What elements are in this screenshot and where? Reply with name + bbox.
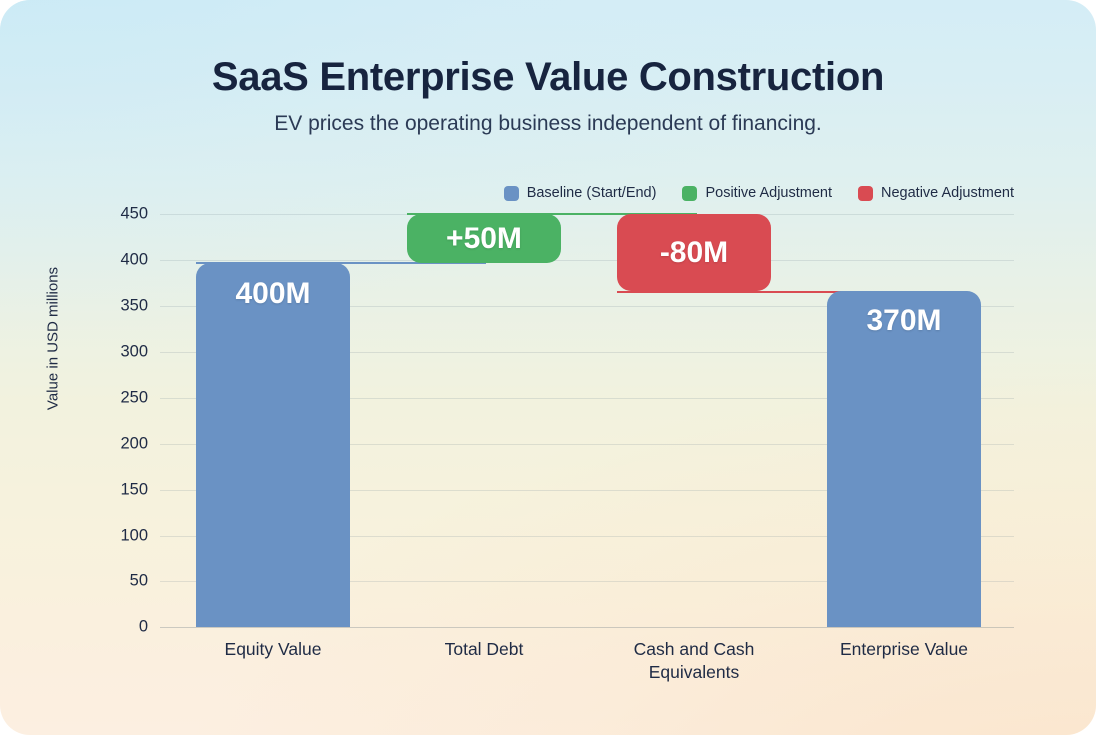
- bar-label-total-debt: +50M: [407, 222, 561, 256]
- y-tick-0: 0: [90, 618, 148, 637]
- chart-legend: Baseline (Start/End) Positive Adjustment…: [160, 185, 1014, 201]
- x-tick-cash-line2: Equivalents: [594, 661, 794, 684]
- bar-cash-and-cash-equivalents[interactable]: -80M: [617, 214, 771, 291]
- chart-subtitle: EV prices the operating business indepen…: [0, 111, 1096, 136]
- x-tick-total-debt-line1: Total Debt: [384, 638, 584, 661]
- y-tick-250: 250: [90, 389, 148, 408]
- gridline-0: [160, 627, 1014, 628]
- x-tick-enterprise-value: Enterprise Value: [804, 638, 1004, 661]
- bar-label-equity-value: 400M: [196, 277, 350, 311]
- x-tick-equity-value-line1: Equity Value: [173, 638, 373, 661]
- y-axis-title: Value in USD millions: [45, 259, 62, 419]
- y-tick-200: 200: [90, 435, 148, 454]
- x-tick-total-debt: Total Debt: [384, 638, 584, 661]
- legend-item-baseline[interactable]: Baseline (Start/End): [504, 185, 657, 201]
- x-tick-cash-line1: Cash and Cash: [594, 638, 794, 661]
- legend-label-negative: Negative Adjustment: [881, 185, 1014, 201]
- legend-swatch-negative: [858, 186, 873, 201]
- chart-card: SaaS Enterprise Value Construction EV pr…: [0, 0, 1096, 735]
- bar-label-cash-and-cash-equivalents: -80M: [617, 236, 771, 270]
- chart-header: SaaS Enterprise Value Construction EV pr…: [0, 54, 1096, 136]
- y-tick-400: 400: [90, 251, 148, 270]
- x-tick-equity-value: Equity Value: [173, 638, 373, 661]
- x-tick-enterprise-value-line1: Enterprise Value: [804, 638, 1004, 661]
- y-tick-300: 300: [90, 343, 148, 362]
- legend-label-baseline: Baseline (Start/End): [527, 185, 657, 201]
- y-tick-150: 150: [90, 481, 148, 500]
- bar-equity-value[interactable]: 400M: [196, 263, 350, 627]
- legend-label-positive: Positive Adjustment: [705, 185, 832, 201]
- x-tick-cash-and-cash-equivalents: Cash and Cash Equivalents: [594, 638, 794, 684]
- bar-total-debt[interactable]: +50M: [407, 214, 561, 263]
- legend-item-positive[interactable]: Positive Adjustment: [682, 185, 832, 201]
- legend-swatch-positive: [682, 186, 697, 201]
- chart-title: SaaS Enterprise Value Construction: [0, 54, 1096, 101]
- legend-item-negative[interactable]: Negative Adjustment: [858, 185, 1014, 201]
- bar-enterprise-value[interactable]: 370M: [827, 291, 981, 627]
- y-tick-350: 350: [90, 297, 148, 316]
- y-tick-50: 50: [90, 572, 148, 591]
- y-tick-100: 100: [90, 527, 148, 546]
- legend-swatch-baseline: [504, 186, 519, 201]
- bar-label-enterprise-value: 370M: [827, 304, 981, 338]
- y-tick-450: 450: [90, 205, 148, 224]
- gridline-400: [160, 260, 1014, 261]
